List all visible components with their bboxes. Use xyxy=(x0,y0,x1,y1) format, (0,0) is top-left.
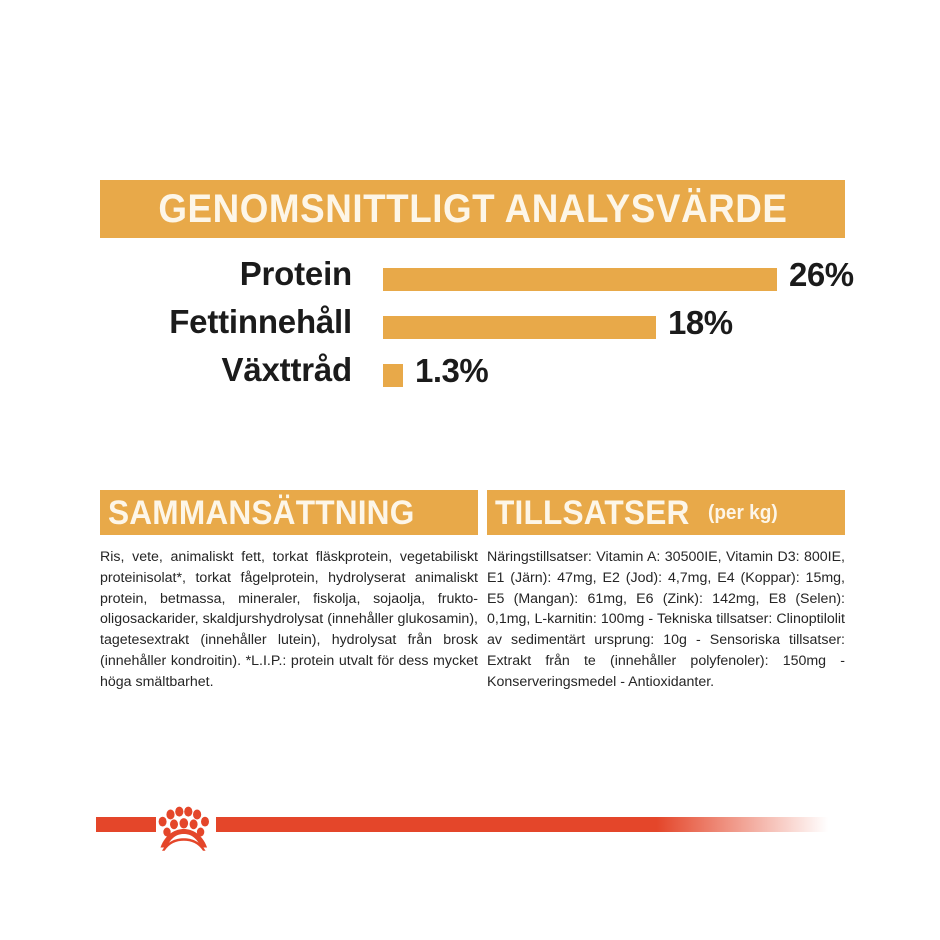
analysis-row: Fettinnehåll 18% xyxy=(100,303,860,351)
analysis-row-label: Växttråd xyxy=(100,351,352,389)
band-segment-right xyxy=(216,817,828,832)
analysis-row-value: 18% xyxy=(668,304,733,342)
band-segment-left xyxy=(96,817,156,832)
additives-section: TILLSATSER (per kg) Näringstillsatser: V… xyxy=(487,490,845,693)
analysis-row: Protein 26% xyxy=(100,255,860,303)
analysis-row-label: Fettinnehåll xyxy=(100,303,352,341)
analysis-bar-chart: Protein 26% Fettinnehåll 18% Växttråd 1.… xyxy=(100,255,860,399)
composition-header-title: SAMMANSÄTTNING xyxy=(108,496,414,530)
composition-body: Ris, vete, animaliskt fett, torkat fläsk… xyxy=(100,547,478,693)
nutrition-panel: GENOMSNITTLIGT ANALYSVÄRDE Protein 26% F… xyxy=(0,0,940,940)
composition-header-banner: SAMMANSÄTTNING xyxy=(100,490,478,535)
analysis-header-title: GENOMSNITTLIGT ANALYSVÄRDE xyxy=(158,189,787,229)
additives-header-subtitle: (per kg) xyxy=(708,503,778,523)
additives-header-banner: TILLSATSER (per kg) xyxy=(487,490,845,535)
analysis-row-bar xyxy=(383,268,777,291)
composition-text: Ris, vete, animaliskt fett, torkat fläsk… xyxy=(100,547,478,693)
analysis-row-label: Protein xyxy=(100,255,352,293)
analysis-row-value: 26% xyxy=(789,256,854,294)
composition-section: SAMMANSÄTTNING Ris, vete, animaliskt fet… xyxy=(100,490,478,693)
analysis-row: Växttråd 1.3% xyxy=(100,351,860,399)
royal-canin-crown-logo xyxy=(152,802,216,852)
analysis-row-bar xyxy=(383,316,656,339)
additives-body: Näringstillsatser: Vitamin A: 30500IE, V… xyxy=(487,547,845,693)
additives-text: Näringstillsatser: Vitamin A: 30500IE, V… xyxy=(487,547,845,693)
analysis-row-value: 1.3% xyxy=(415,352,488,390)
analysis-row-bar xyxy=(383,364,403,387)
brand-footer-band xyxy=(0,800,940,860)
additives-header-title: TILLSATSER xyxy=(495,496,690,530)
analysis-header-banner: GENOMSNITTLIGT ANALYSVÄRDE xyxy=(100,180,845,238)
